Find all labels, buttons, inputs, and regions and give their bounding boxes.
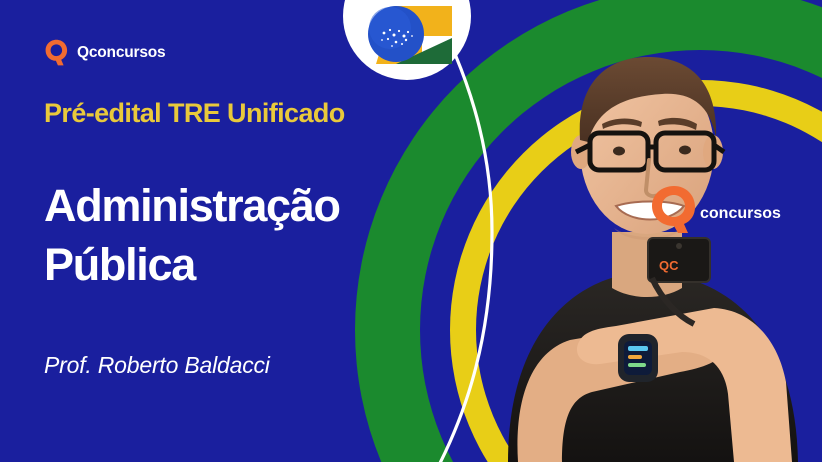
presenter-eye-left: [613, 147, 625, 156]
page-title: Administração Pública: [44, 176, 340, 295]
brand-logo: Qconcursos: [44, 39, 165, 66]
eyebrow-title: Pré-edital TRE Unificado: [44, 99, 345, 129]
svg-text:QC: QC: [659, 258, 679, 273]
presenter-smartwatch-icon: [618, 334, 658, 382]
slide-content: Qconcursos Pré-edital TRE Unificado Admi…: [44, 0, 464, 462]
qconcursos-q-mark-icon: [44, 39, 70, 66]
slide-canvas: QC concursos Qconcursos Pré-edital TRE U…: [0, 0, 822, 462]
shirt-logo-text: concursos: [700, 205, 781, 222]
presenter-name: Prof. Roberto Baldacci: [44, 352, 270, 379]
presenter-eye-right: [679, 146, 691, 155]
brand-logo-text: Qconcursos: [77, 44, 165, 62]
presenter-photo: QC concursos: [466, 0, 822, 462]
presenter-id-badge: QC: [648, 238, 710, 282]
